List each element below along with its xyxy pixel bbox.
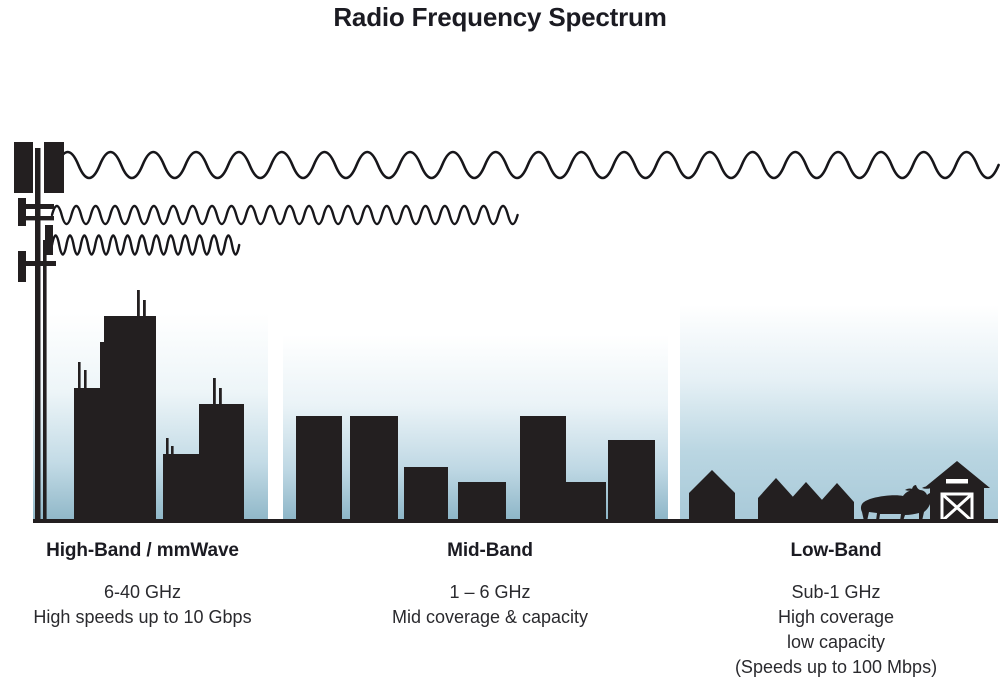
tower-crossarm-middle (22, 216, 54, 220)
tower-mast-secondary (43, 240, 47, 521)
hb-antenna-spire-3b (171, 446, 174, 456)
band-label-mid: Mid-Band 1 – 6 GHz Mid coverage & capaci… (330, 540, 650, 630)
tower-antenna-panel-right-top (44, 142, 64, 193)
band-detail-low-line-2: low capacity (672, 630, 1000, 655)
band-detail-low-line-1: High coverage (672, 605, 1000, 630)
mb-building-7 (608, 440, 655, 521)
mb-building-1 (296, 416, 342, 521)
wave-short-high-band (52, 236, 239, 255)
band-frequency-high: 6-40 GHz (0, 580, 285, 605)
spectrum-scene-svg (0, 120, 1000, 530)
band-detail-high: 6-40 GHz High speeds up to 10 Gbps (0, 580, 285, 630)
hb-antenna-spire-3a (166, 438, 169, 456)
band-labels: High-Band / mmWave 6-40 GHz High speeds … (0, 540, 1000, 700)
band-detail-low-line-3: (Speeds up to 100 Mbps) (672, 655, 1000, 680)
hb-antenna-spire-2b (143, 300, 146, 318)
band-heading-mid: Mid-Band (330, 540, 650, 562)
tower-crossarm-lower (22, 261, 56, 266)
tower-antenna-panel-right-mid (45, 225, 53, 255)
hb-building-5 (199, 404, 244, 521)
band-frequency-low: Sub-1 GHz (672, 580, 1000, 605)
band-label-low: Low-Band Sub-1 GHz High coverage low cap… (672, 540, 1000, 680)
mb-building-5 (520, 416, 566, 521)
hb-antenna-spire-4a (213, 378, 216, 406)
radio-frequency-spectrum-infographic: Radio Frequency Spectrum (0, 0, 1000, 700)
band-heading-high: High-Band / mmWave (0, 540, 285, 562)
mb-building-2 (350, 416, 398, 521)
band-detail-mid-line-1: Mid coverage & capacity (330, 605, 650, 630)
barn-hayloft-vent (946, 479, 968, 484)
hb-building-4 (163, 454, 201, 521)
band-detail-high-line-1: High speeds up to 10 Gbps (0, 605, 285, 630)
tower-antenna-panel-left-mid (18, 198, 26, 226)
mb-building-6 (566, 482, 606, 521)
hb-antenna-spire-2a (137, 290, 140, 318)
page-title: Radio Frequency Spectrum (0, 2, 1000, 33)
tower-antenna-panel-left-low (18, 251, 26, 282)
mb-building-4 (458, 482, 506, 521)
mb-building-3 (404, 467, 448, 521)
band-detail-low: Sub-1 GHz High coverage low capacity (Sp… (672, 580, 1000, 680)
hb-antenna-spire-4b (219, 388, 222, 406)
wave-long-low-band (57, 152, 999, 178)
spectrum-illustration (0, 120, 1000, 530)
wave-medium-mid-band (52, 206, 518, 224)
hb-antenna-spire-1a (78, 362, 81, 390)
hb-building-1 (74, 388, 100, 521)
band-label-high: High-Band / mmWave 6-40 GHz High speeds … (0, 540, 285, 630)
ground-baseline (33, 519, 998, 523)
band-heading-low: Low-Band (672, 540, 1000, 562)
band-frequency-mid: 1 – 6 GHz (330, 580, 650, 605)
hb-building-3 (104, 316, 156, 521)
tower-mast (35, 148, 41, 521)
band-detail-mid: 1 – 6 GHz Mid coverage & capacity (330, 580, 650, 630)
tower-antenna-panel-left-top (14, 142, 33, 193)
hb-antenna-spire-1b (84, 370, 87, 390)
